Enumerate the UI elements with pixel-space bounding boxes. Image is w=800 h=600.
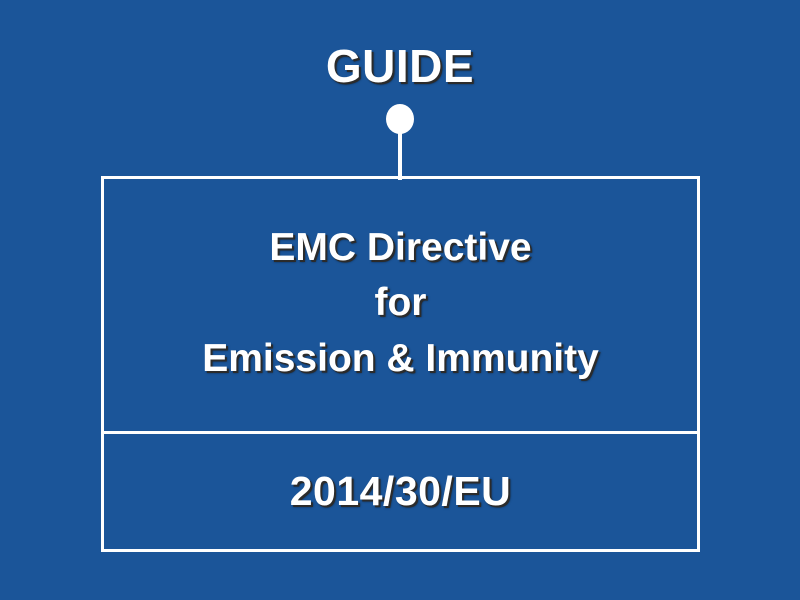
directive-box-upper-section: EMC Directive for Emission & Immunity: [104, 179, 697, 434]
page-title: GUIDE: [0, 42, 800, 90]
directive-number: 2014/30/EU: [290, 467, 512, 516]
vertical-connector-line-icon: [398, 132, 402, 180]
directive-box-lower-section: 2014/30/EU: [104, 434, 697, 549]
directive-box: EMC Directive for Emission & Immunity 20…: [101, 176, 700, 552]
directive-title-line-2: for: [375, 275, 427, 330]
directive-title-line-3: Emission & Immunity: [202, 331, 599, 386]
slide-canvas: GUIDE EMC Directive for Emission & Immun…: [0, 0, 800, 600]
filled-circle-node-icon: [386, 104, 414, 134]
directive-title-line-1: EMC Directive: [269, 220, 531, 275]
connector: [0, 104, 800, 180]
